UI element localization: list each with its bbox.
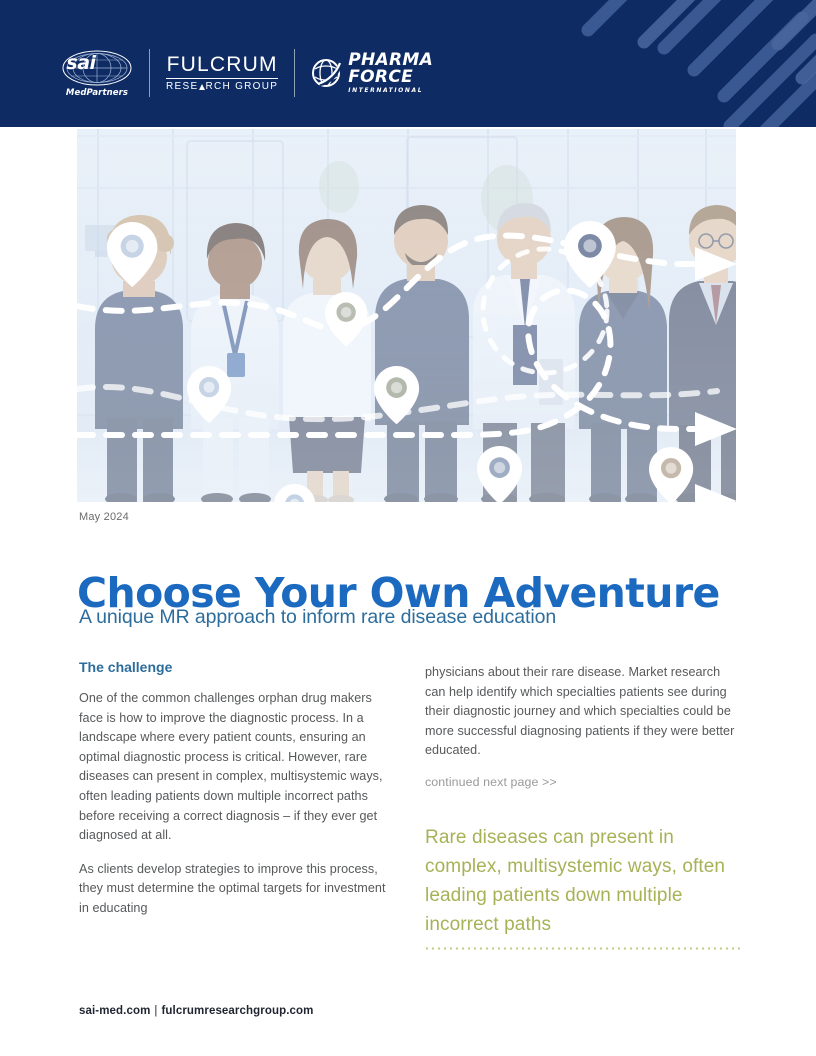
footer-separator: | bbox=[150, 1005, 161, 1017]
sai-medpartners-logo: sai MedPartners bbox=[45, 44, 149, 102]
footer-link-fulcrum[interactable]: fulcrumresearchgroup.com bbox=[162, 1005, 314, 1017]
page-header: sai MedPartners FULCRUM RESERCH GROUP bbox=[0, 0, 816, 127]
pharmaforce-tagline: INTERNATIONAL bbox=[348, 87, 433, 94]
map-pin-icon bbox=[649, 447, 693, 502]
map-pin-icon bbox=[325, 292, 367, 347]
section-heading-the-challenge: The challenge bbox=[79, 659, 391, 675]
triangle-a-icon bbox=[199, 84, 205, 90]
pull-quote-dotted-rule bbox=[424, 947, 740, 950]
map-pin-icon bbox=[187, 366, 231, 423]
fulcrum-tagline-part2: RCH GROUP bbox=[205, 81, 278, 92]
article-column-right: physicians about their rare disease. Mar… bbox=[425, 663, 737, 789]
sai-wordmark: sai bbox=[45, 44, 117, 82]
fulcrum-tagline-part1: RESE bbox=[166, 81, 198, 92]
journey-path-overlay bbox=[77, 129, 736, 502]
journey-path-1 bbox=[77, 236, 717, 329]
footer-link-sai-med[interactable]: sai-med.com bbox=[79, 1005, 150, 1017]
pharmaforce-wordmark-line1: PHARMA bbox=[348, 52, 433, 69]
fulcrum-research-group-logo: FULCRUM RESERCH GROUP bbox=[150, 44, 294, 102]
fulcrum-tagline: RESERCH GROUP bbox=[166, 81, 278, 92]
page-subtitle: A unique MR approach to inform rare dise… bbox=[79, 606, 556, 629]
page-footer: sai-med.com|fulcrumresearchgroup.com bbox=[79, 1005, 313, 1017]
globe-swoosh-icon bbox=[311, 58, 341, 88]
header-diagonal-stripes-decoration bbox=[516, 0, 816, 127]
map-pin-icon bbox=[107, 222, 157, 287]
publication-date: May 2024 bbox=[79, 511, 129, 523]
map-pin-group bbox=[107, 221, 693, 502]
sai-tagline: MedPartners bbox=[66, 88, 128, 98]
pull-quote: Rare diseases can present in complex, mu… bbox=[425, 823, 745, 939]
brand-logo-group: sai MedPartners FULCRUM RESERCH GROUP bbox=[45, 44, 449, 102]
fulcrum-rule bbox=[166, 78, 278, 79]
map-pin-icon bbox=[477, 446, 522, 502]
journey-arrowheads bbox=[695, 247, 736, 502]
continued-next-page-label: continued next page >> bbox=[425, 775, 737, 789]
body-paragraph: As clients develop strategies to improve… bbox=[79, 860, 391, 919]
body-paragraph: physicians about their rare disease. Mar… bbox=[425, 663, 737, 761]
body-paragraph: One of the common challenges orphan drug… bbox=[79, 689, 391, 846]
map-pin-icon bbox=[564, 221, 616, 288]
map-pin-icon bbox=[274, 484, 315, 502]
pharmaforce-wordmark-line2: FORCE bbox=[348, 69, 433, 86]
fulcrum-wordmark: FULCRUM bbox=[167, 54, 278, 76]
hero-image bbox=[77, 129, 736, 502]
article-column-left: The challenge One of the common challeng… bbox=[79, 659, 391, 919]
pharmaforce-international-logo: PHARMA FORCE INTERNATIONAL bbox=[295, 44, 449, 102]
